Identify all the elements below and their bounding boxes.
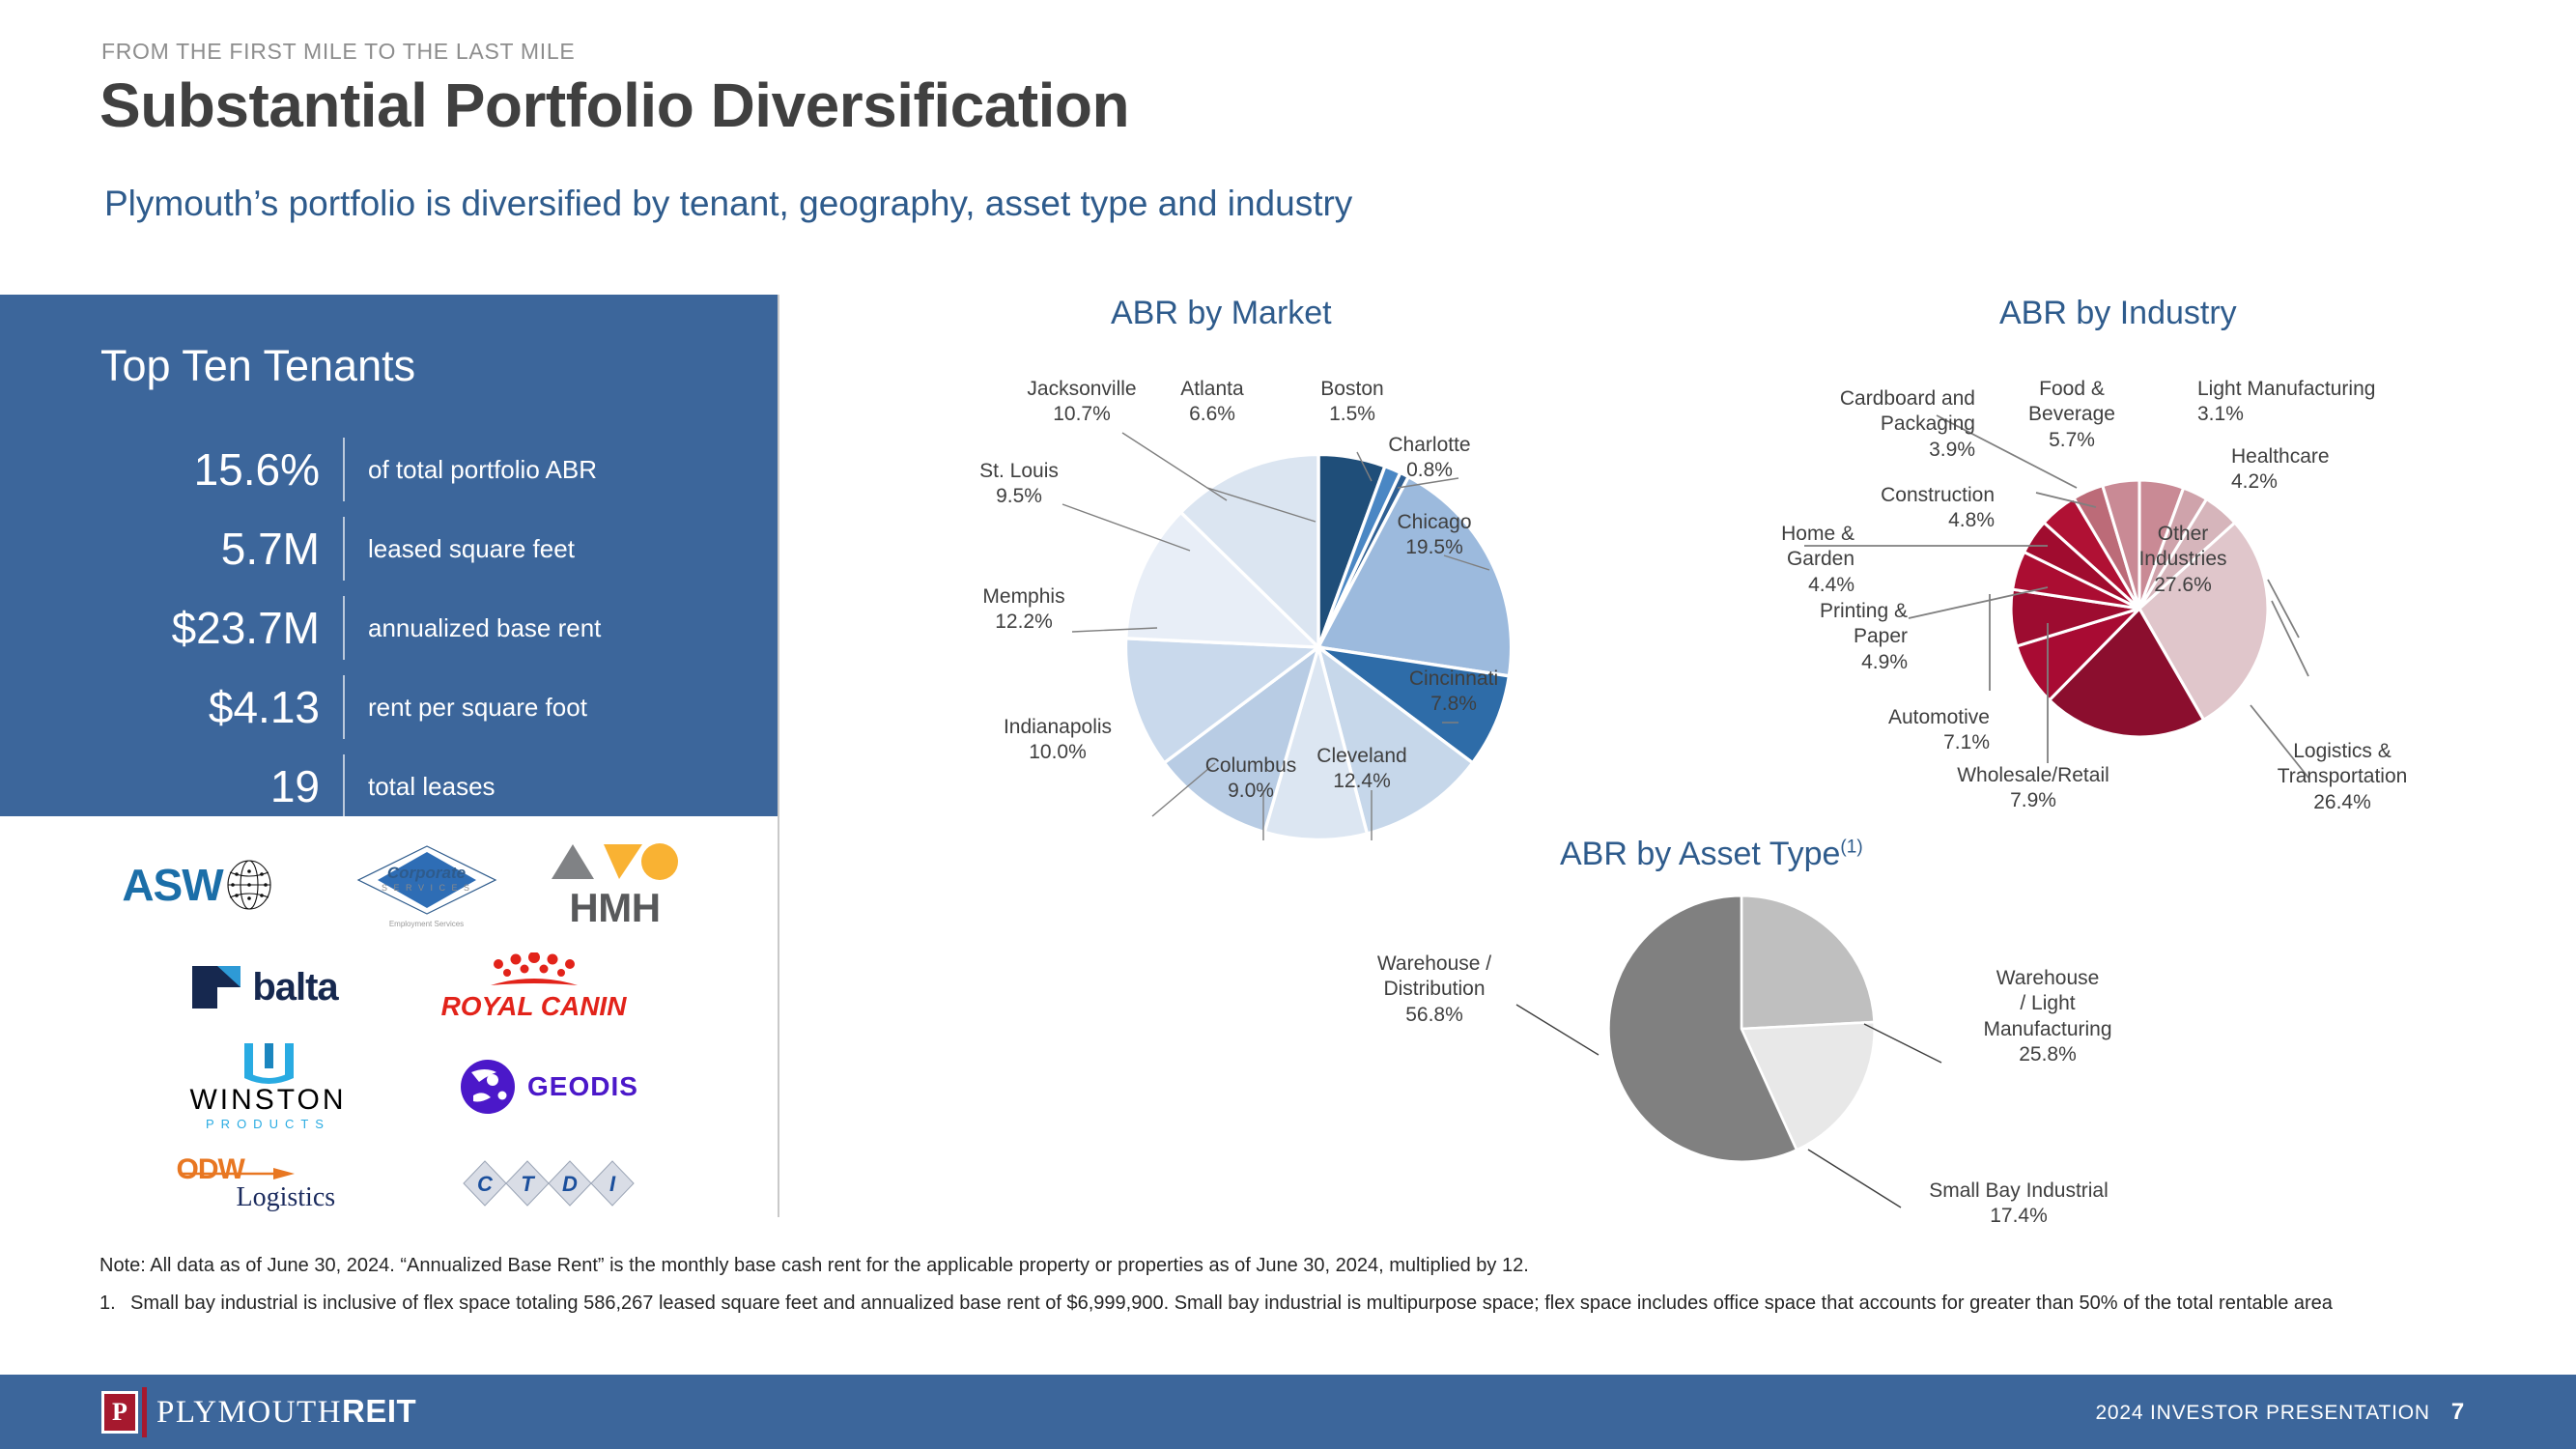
stat-value: $4.13 <box>0 681 343 733</box>
page-title: Substantial Portfolio Diversification <box>99 70 1129 141</box>
stat-value: 19 <box>0 760 343 812</box>
page-subtitle: Plymouth’s portfolio is diversified by t… <box>104 184 1352 224</box>
corporate-logo-sub2: Employment Services <box>389 920 464 928</box>
logo-mark-p: P <box>101 1391 138 1434</box>
odw-logistics-text: Logistics <box>237 1182 336 1213</box>
tenant-logo-corporate-services: Corporate S E R V I C E S Employment Ser… <box>330 842 524 928</box>
logo-rule <box>142 1387 147 1437</box>
market-label-charlotte: Charlotte 0.8% <box>1352 433 1507 484</box>
crown-icon <box>452 952 616 991</box>
industry-label-printing-paper: Printing & Paper 4.9% <box>1768 599 1908 675</box>
hmh-logo-text: HMH <box>569 885 660 931</box>
arrow-icon <box>181 1163 297 1184</box>
winston-logo-text: WINSTON <box>189 1084 346 1117</box>
slide-eyebrow: FROM THE FIRST MILE TO THE LAST MILE <box>101 39 575 65</box>
tenant-stats-list: 15.6% of total portfolio ABR 5.7M leased… <box>0 430 778 826</box>
chart-title-asset-type: ABR by Asset Type(1) <box>1560 836 1863 873</box>
tenant-logo-royal-canin: ROYAL CANIN <box>409 952 660 1022</box>
asset-label-warehouse-light-manufacturing: Warehouse / Light Manufacturing 25.8% <box>1951 966 2144 1067</box>
market-label-boston: Boston 1.5% <box>1285 377 1420 428</box>
hmh-mark-icon <box>548 838 683 885</box>
asw-logo-text: ASW <box>122 859 222 911</box>
stat-label: total leases <box>345 772 495 802</box>
asset-label-warehouse-distribution: Warehouse / Distribution 56.8% <box>1347 952 1521 1028</box>
footer-meta: 2024 INVESTOR PRESENTATION7 <box>2095 1399 2465 1426</box>
page-number: 7 <box>2451 1399 2465 1425</box>
slide: FROM THE FIRST MILE TO THE LAST MILE Sub… <box>0 0 2576 1449</box>
industry-label-food-beverage: Food & Beverage 5.7% <box>2009 377 2135 453</box>
logo-wordmark: PLYMOUTHREIT <box>156 1393 416 1431</box>
logo-word-plymouth: PLYMOUTH <box>156 1395 342 1430</box>
corporate-logo-text: Corporate <box>354 864 499 883</box>
tenant-logo-ctdi: CT DI <box>428 1157 669 1209</box>
market-label-cincinnati: Cincinnati 7.8% <box>1372 667 1536 718</box>
chart-title-market-text: ABR by Market <box>1111 295 1332 331</box>
footnote-text: Small bay industrial is inclusive of fle… <box>130 1289 2466 1319</box>
svg-text:T: T <box>521 1172 535 1196</box>
footnote-number: 1. <box>99 1289 130 1319</box>
winston-mark-icon <box>235 1041 302 1084</box>
market-label-stlouis: St. Louis 9.5% <box>947 459 1091 510</box>
winston-logo-sub: PRODUCTS <box>206 1117 330 1131</box>
industry-label-wholesale-retail: Wholesale/Retail 7.9% <box>1917 763 2149 814</box>
stat-row: 19 total leases <box>0 747 778 826</box>
footnote-line: 1. Small bay industrial is inclusive of … <box>99 1289 2466 1319</box>
chart-title-asset-type-sup: (1) <box>1840 838 1862 858</box>
footer-presentation-label: 2024 INVESTOR PRESENTATION <box>2095 1402 2429 1424</box>
stat-row: 15.6% of total portfolio ABR <box>0 430 778 509</box>
industry-label-light-manufacturing: Light Manufacturing 3.1% <box>2197 377 2420 428</box>
market-label-chicago: Chicago 19.5% <box>1362 510 1507 561</box>
tenant-logo-geodis: GEODIS <box>428 1057 669 1117</box>
balta-mark-icon <box>188 962 244 1012</box>
tenant-logo-hmh: HMH <box>524 838 707 931</box>
corporate-logo-sub: S E R V I C E S <box>354 883 499 893</box>
chart-title-industry-text: ABR by Industry <box>1999 295 2237 331</box>
abr-by-asset-type-pie <box>1601 889 1882 1169</box>
royal-canin-logo-text: ROYAL CANIN <box>441 991 627 1022</box>
tenants-heading: Top Ten Tenants <box>100 341 415 391</box>
chart-title-asset-type-text: ABR by Asset Type <box>1560 836 1840 872</box>
chart-title-market: ABR by Market <box>1111 295 1332 332</box>
tenant-logo-grid: ASW <box>0 831 778 1217</box>
tenant-logo-balta: balta <box>119 962 409 1012</box>
abr-by-industry-pie-crimson <box>2004 473 2275 744</box>
note-line: Note: All data as of June 30, 2024. “Ann… <box>99 1251 2466 1281</box>
plymouth-reit-logo: P PLYMOUTHREIT <box>101 1387 416 1437</box>
market-label-cleveland: Cleveland 12.4% <box>1285 744 1439 795</box>
tenant-logo-asw: ASW <box>71 855 330 915</box>
industry-label-home-garden: Home & Garden 4.4% <box>1719 522 1854 598</box>
stat-label: rent per square foot <box>345 693 587 723</box>
logo-word-reit: REIT <box>342 1393 416 1429</box>
geodis-mark-icon <box>458 1057 518 1117</box>
industry-label-other-industries: Other Industries 27.6% <box>2115 522 2250 598</box>
stat-label: of total portfolio ABR <box>345 455 597 485</box>
market-label-memphis: Memphis 12.2% <box>951 584 1096 636</box>
balta-logo-text: balta <box>252 966 337 1009</box>
svg-text:C: C <box>477 1172 494 1196</box>
top-ten-tenants-panel: Top Ten Tenants 15.6% of total portfolio… <box>0 295 778 816</box>
industry-label-cardboard-packaging: Cardboard and Packaging 3.9% <box>1758 386 1975 463</box>
ctdi-mark-icon: CT DI <box>462 1157 636 1209</box>
footnotes: Note: All data as of June 30, 2024. “Ann… <box>99 1251 2466 1319</box>
industry-label-automotive: Automotive 7.1% <box>1816 705 1990 756</box>
market-label-atlanta: Atlanta 6.6% <box>1140 377 1285 428</box>
industry-label-healthcare: Healthcare 4.2% <box>2231 444 2405 496</box>
industry-label-logistics-transportation: Logistics & Transportation 26.4% <box>2231 739 2453 815</box>
stat-value: 15.6% <box>0 443 343 496</box>
svg-text:I: I <box>609 1172 615 1196</box>
globe-icon <box>219 855 279 915</box>
stat-label: leased square feet <box>345 534 575 564</box>
slide-footer: P PLYMOUTHREIT 2024 INVESTOR PRESENTATIO… <box>0 1375 2576 1449</box>
svg-text:D: D <box>562 1172 578 1196</box>
stat-row: 5.7M leased square feet <box>0 509 778 588</box>
panel-divider <box>778 295 779 1217</box>
stat-label: annualized base rent <box>345 613 601 643</box>
stat-value: 5.7M <box>0 523 343 575</box>
stat-row: $4.13 rent per square foot <box>0 668 778 747</box>
stat-row: $23.7M annualized base rent <box>0 588 778 668</box>
market-label-indianapolis: Indianapolis 10.0% <box>966 715 1149 766</box>
geodis-logo-text: GEODIS <box>527 1071 638 1102</box>
tenant-logo-winston-products: WINSTON PRODUCTS <box>109 1041 428 1131</box>
chart-title-industry: ABR by Industry <box>1999 295 2237 332</box>
asset-label-small-bay-industrial: Small Bay Industrial 17.4% <box>1908 1179 2130 1230</box>
stat-value: $23.7M <box>0 602 343 654</box>
tenant-logo-odw-logistics: ODW Logistics <box>109 1153 428 1213</box>
